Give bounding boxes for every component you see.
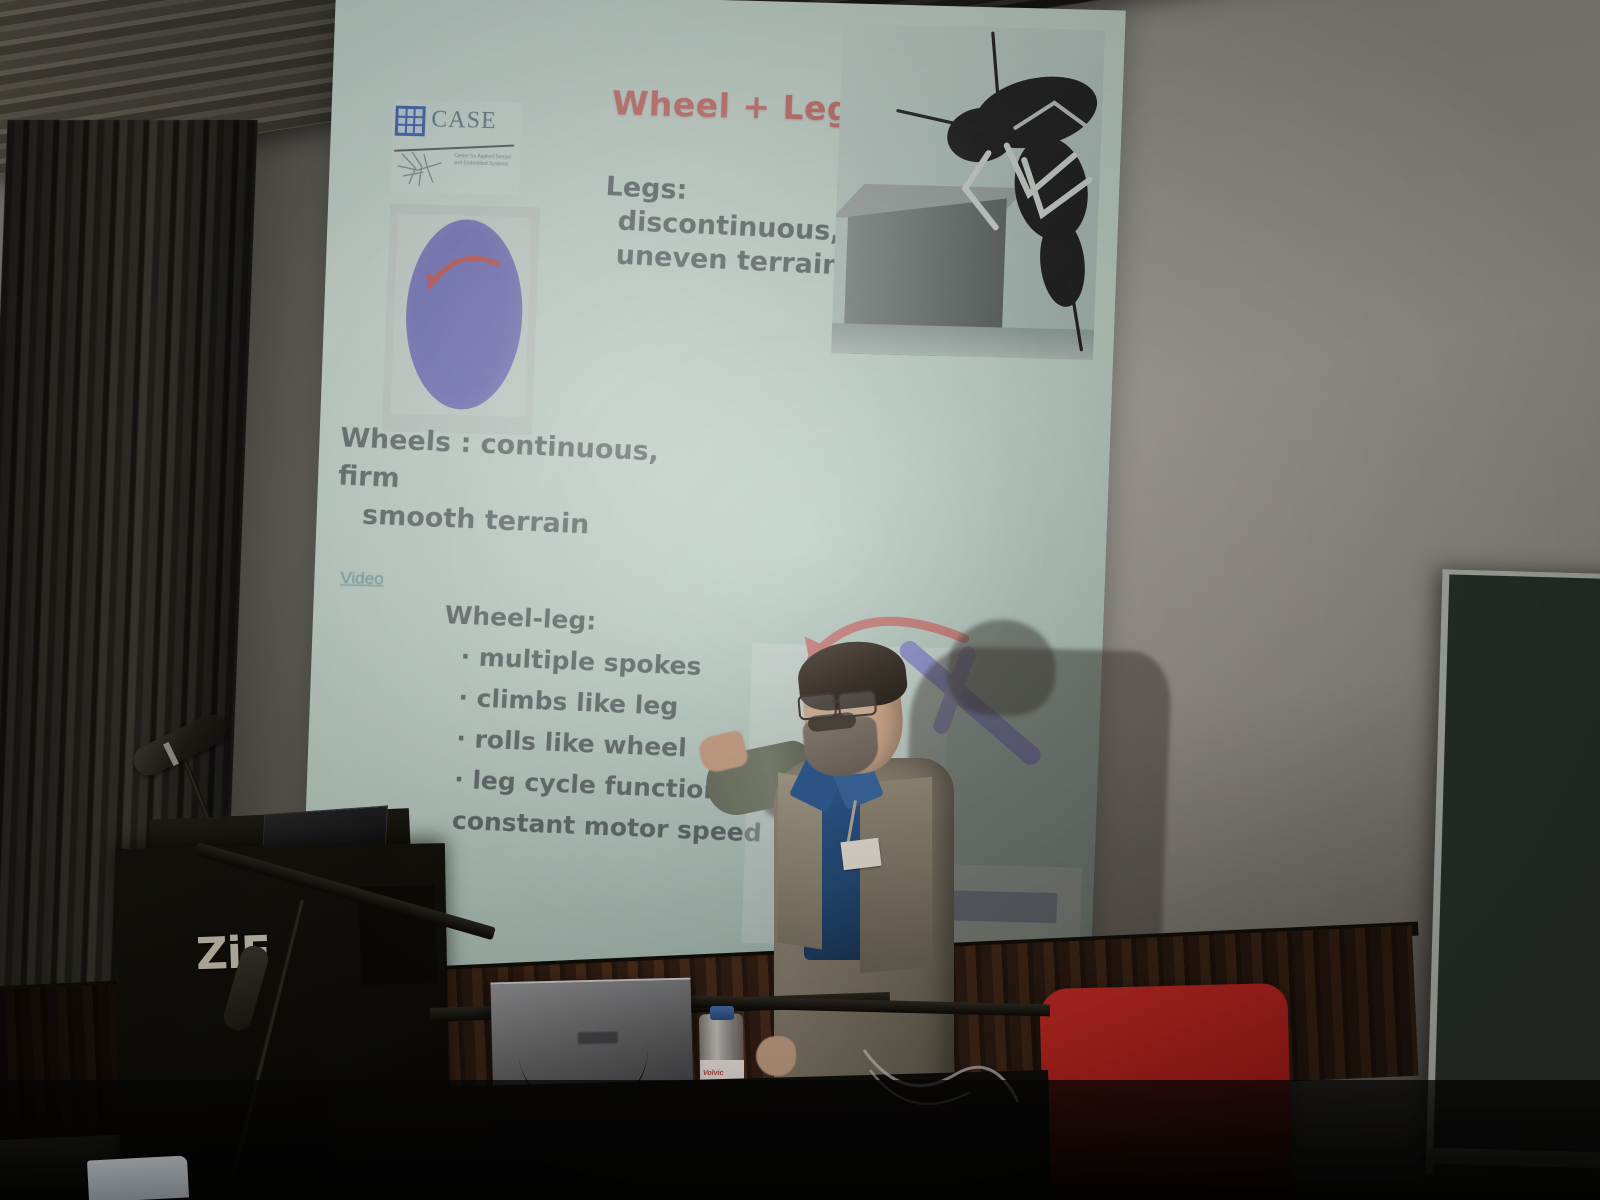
- bottle-brand-text: Volvic: [703, 1070, 723, 1077]
- rotation-arrow-icon: [423, 238, 505, 300]
- case-wordmark: CASE: [431, 107, 497, 136]
- bullet-glyph-2: ·: [458, 683, 469, 712]
- dark-foreground: [0, 1080, 1600, 1200]
- bullet-label-2: climbs like leg: [476, 684, 679, 721]
- bullet-glyph-4: ·: [453, 765, 464, 794]
- insect-silhouette: [831, 23, 1105, 360]
- case-logo-subtext: Center for Applied Sensor and Embedded S…: [454, 153, 516, 169]
- presenter-lapel-right: [860, 777, 932, 973]
- insect-climbing-photo: [831, 23, 1105, 360]
- wheel-diagram-panel: [382, 203, 540, 435]
- case-logo-icon: [395, 106, 426, 137]
- glasses-lens-right: [837, 690, 877, 718]
- bullet-label-3: rolls like wheel: [474, 725, 688, 763]
- bullet-glyph-1: ·: [460, 642, 471, 671]
- glasses-lens-left: [797, 692, 837, 720]
- lecture-hall-scene: CASE Center for Applied Sensor and Embed…: [0, 0, 1600, 1200]
- legs-line-1: Legs:: [605, 171, 688, 206]
- insect-line-art-icon: [393, 146, 455, 192]
- bottle-cap: [710, 1006, 734, 1020]
- bullet-glyph-3: ·: [456, 724, 467, 753]
- presenter-name-badge: [840, 838, 881, 870]
- wheels-line-2: smooth terrain: [361, 496, 667, 547]
- video-link[interactable]: Video: [340, 568, 384, 589]
- wheels-text-block: Wheels : continuous, firm smooth terrain: [335, 419, 671, 547]
- wheels-line-1: Wheels : continuous, firm: [337, 422, 659, 494]
- slide-title: Wheel + Leg: [611, 83, 852, 128]
- bullet-label-1: multiple spokes: [478, 643, 702, 681]
- case-logo: CASE Center for Applied Sensor and Embed…: [391, 100, 522, 195]
- presenter-lower-hand: [756, 1036, 796, 1076]
- paper-sheet: [87, 1155, 189, 1200]
